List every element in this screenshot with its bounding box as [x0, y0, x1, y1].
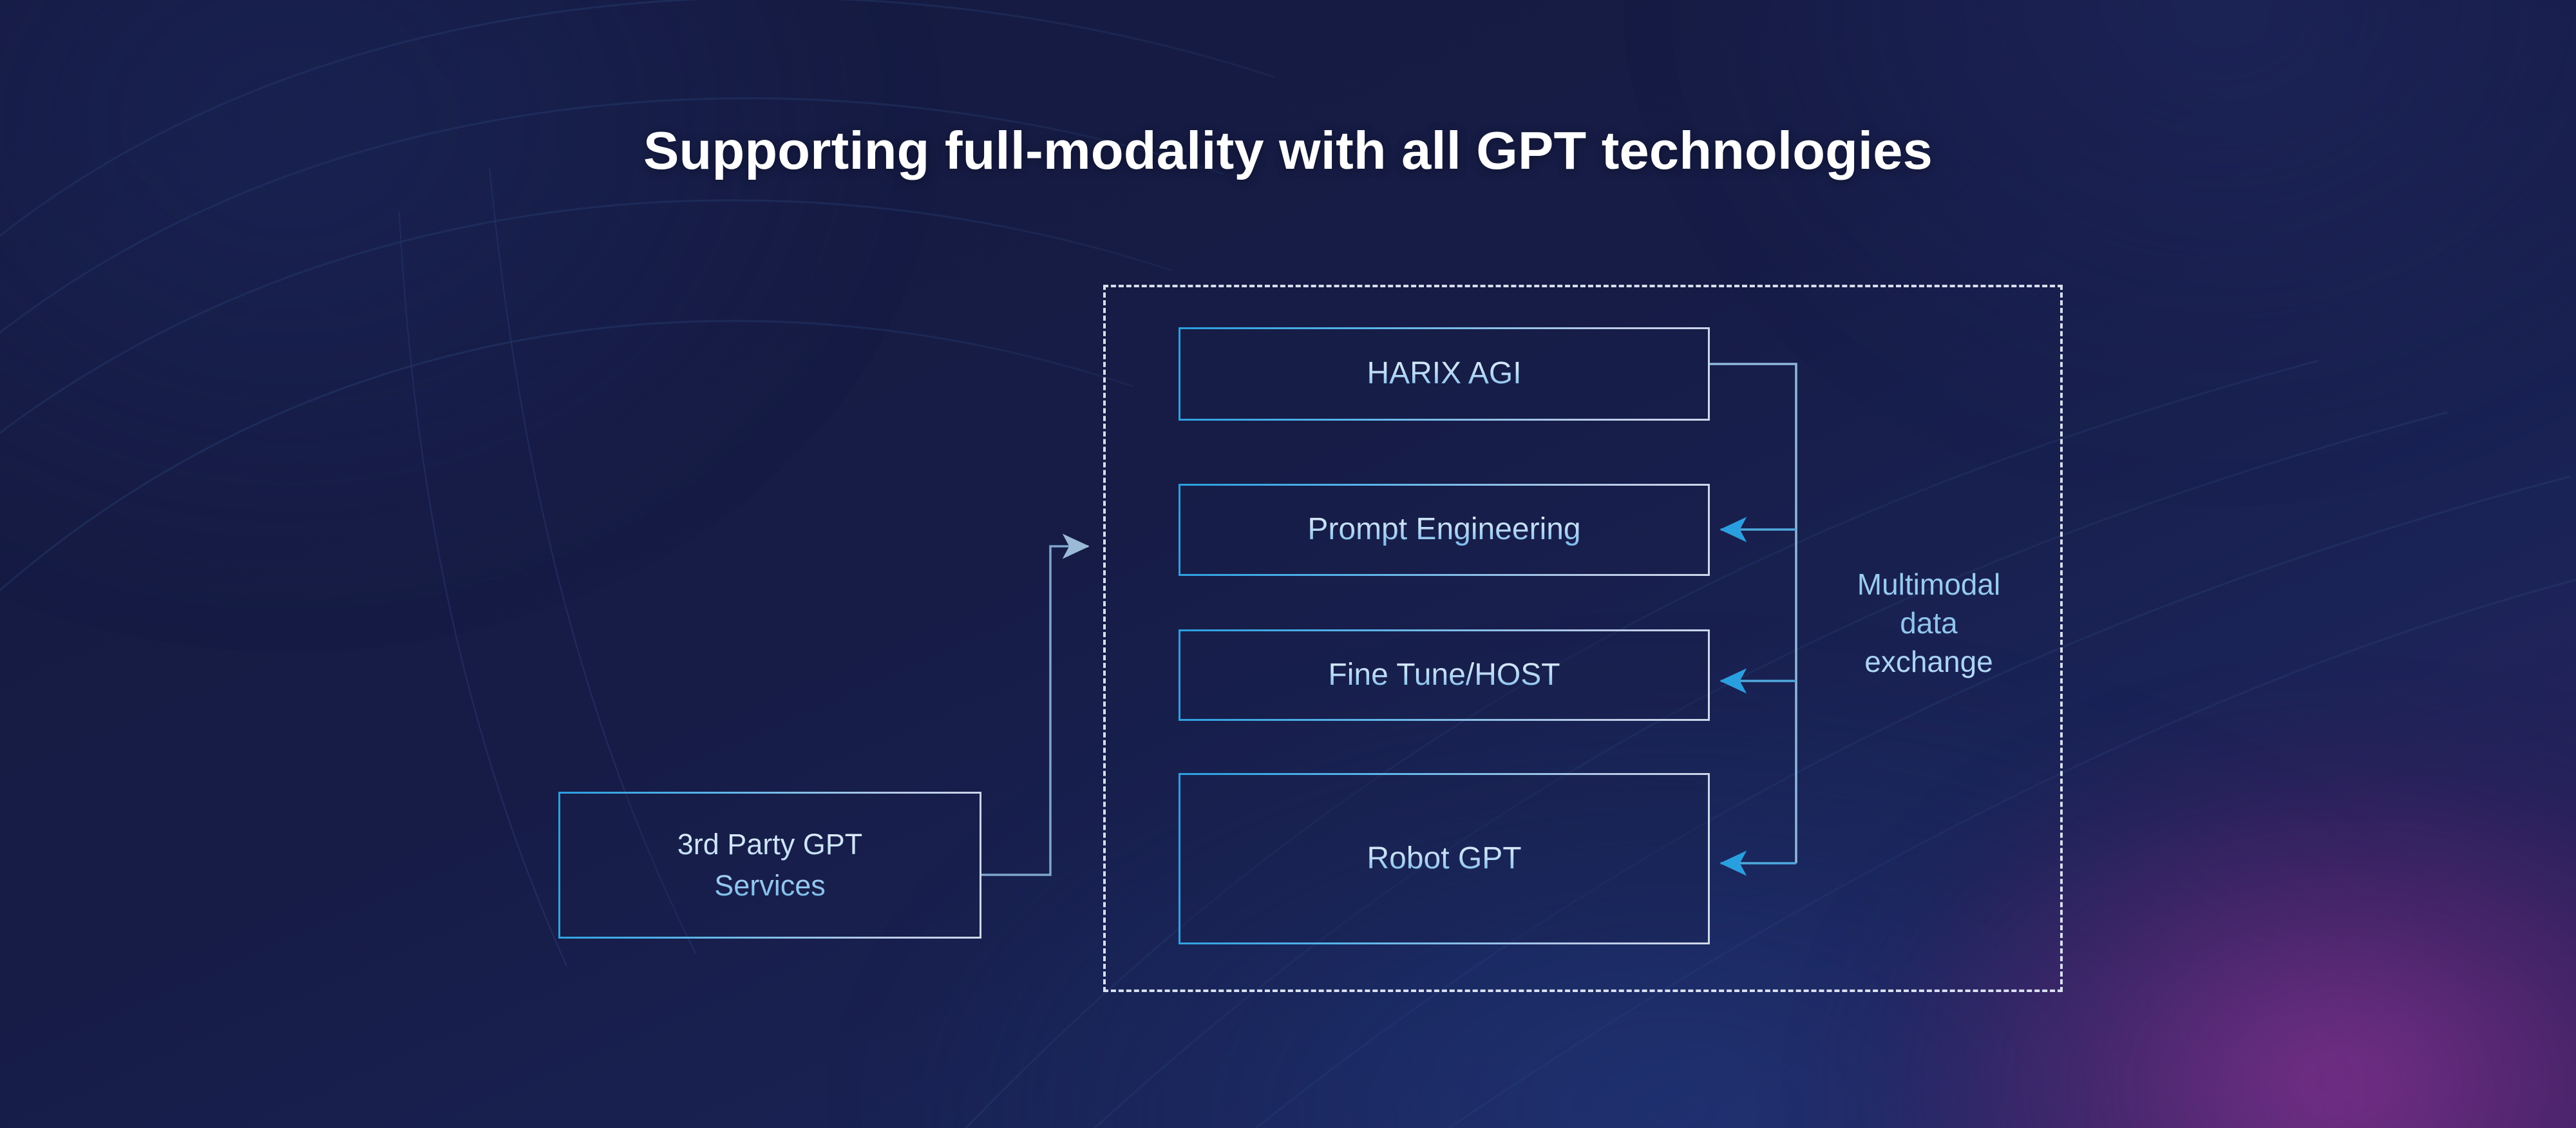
multimodal-data-exchange-label: Multimodal data exchange [1823, 566, 2035, 681]
node-fine-tune-host-label: Fine Tune/HOST [1321, 657, 1566, 694]
node-third-party-gpt-services-label: 3rd Party GPT Services [671, 824, 869, 906]
node-robot-gpt-label: Robot GPT [1360, 841, 1528, 877]
node-prompt-engineering[interactable]: Prompt Engineering [1179, 484, 1710, 576]
node-prompt-engineering-label: Prompt Engineering [1301, 511, 1587, 548]
node-harix-agi[interactable]: HARIX AGI [1179, 327, 1710, 421]
node-robot-gpt[interactable]: Robot GPT [1179, 773, 1710, 944]
architecture-diagram: HARIX AGI Prompt Engineering Fine Tune/H… [0, 0, 2576, 1128]
node-fine-tune-host[interactable]: Fine Tune/HOST [1179, 629, 1710, 721]
node-third-party-gpt-services[interactable]: 3rd Party GPT Services [558, 792, 981, 939]
connector-third-party-to-group [981, 546, 1088, 875]
node-harix-agi-label: HARIX AGI [1360, 356, 1528, 392]
